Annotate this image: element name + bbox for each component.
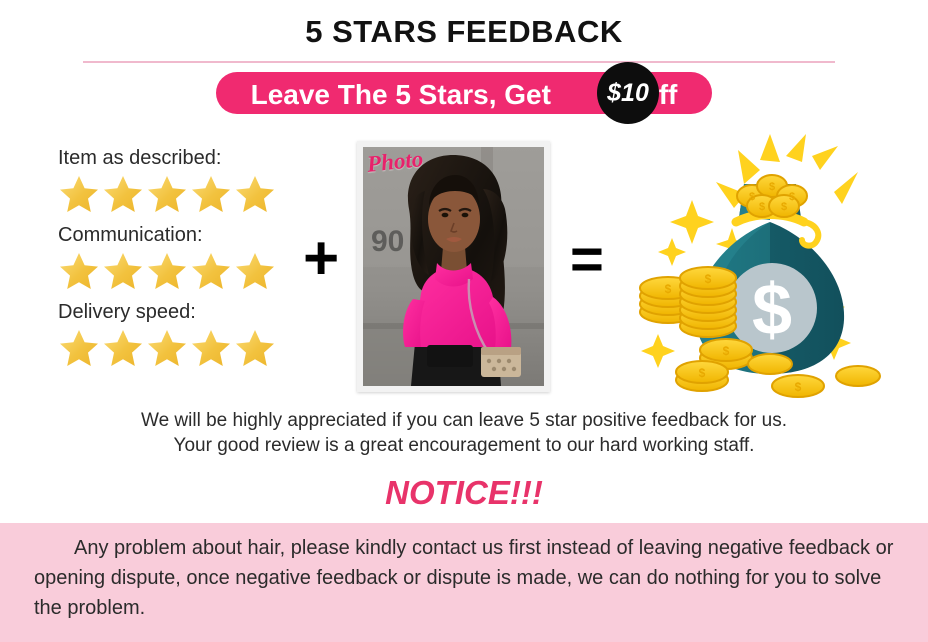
ratings-list: Item as described: Communication: Delive… bbox=[58, 145, 298, 376]
svg-text:$: $ bbox=[795, 380, 802, 394]
star-icon bbox=[146, 250, 188, 290]
star-rating-communication bbox=[58, 250, 298, 290]
svg-text:$: $ bbox=[789, 191, 795, 203]
customer-photo-frame: 90 Photo bbox=[357, 141, 550, 392]
star-icon bbox=[190, 250, 232, 290]
rating-label-item-as-described: Item as described: bbox=[58, 145, 298, 171]
svg-text:$: $ bbox=[705, 272, 712, 286]
svg-text:$: $ bbox=[759, 201, 765, 213]
star-icon bbox=[58, 250, 100, 290]
svg-text:$: $ bbox=[781, 201, 787, 213]
star-icon bbox=[234, 173, 276, 213]
page-title: 5 STARS FEEDBACK bbox=[0, 14, 928, 50]
svg-text:$: $ bbox=[749, 191, 755, 203]
footer-band: Any problem about hair, please kindly co… bbox=[0, 523, 928, 642]
star-icon bbox=[146, 327, 188, 367]
svg-text:$: $ bbox=[723, 344, 730, 358]
body-copy: We will be highly appreciated if you can… bbox=[64, 408, 864, 458]
star-icon bbox=[102, 250, 144, 290]
rating-label-delivery-speed: Delivery speed: bbox=[58, 299, 298, 325]
star-icon bbox=[102, 173, 144, 213]
body-copy-line-2: Your good review is a great encouragemen… bbox=[64, 433, 864, 458]
body-copy-line-1: We will be highly appreciated if you can… bbox=[64, 408, 864, 433]
star-icon bbox=[102, 327, 144, 367]
photo-illustration bbox=[363, 147, 544, 386]
star-icon bbox=[190, 173, 232, 213]
rating-row: Delivery speed: bbox=[58, 299, 298, 367]
plus-operator: + bbox=[303, 228, 339, 290]
dollar-sign-label: $ bbox=[752, 270, 792, 350]
svg-text:$: $ bbox=[769, 181, 775, 193]
svg-text:$: $ bbox=[699, 366, 706, 380]
footer-disclaimer-text: Any problem about hair, please kindly co… bbox=[34, 533, 896, 623]
star-icon bbox=[234, 327, 276, 367]
star-icon bbox=[234, 250, 276, 290]
rating-row: Item as described: bbox=[58, 145, 298, 213]
star-icon bbox=[146, 173, 188, 213]
star-icon bbox=[190, 327, 232, 367]
header-divider bbox=[83, 61, 835, 63]
star-rating-item-as-described bbox=[58, 173, 298, 213]
star-icon bbox=[58, 173, 100, 213]
promo-text-before: Leave The 5 Stars, Get bbox=[251, 76, 551, 114]
star-icon bbox=[58, 327, 100, 367]
rating-row: Communication: bbox=[58, 222, 298, 290]
star-rating-delivery-speed bbox=[58, 327, 298, 367]
coin-pile-top: $$$ $$ bbox=[737, 175, 807, 217]
promo-banner: 5 STARS FEEDBACK Leave The 5 Stars, GetO… bbox=[0, 0, 928, 642]
rating-label-communication: Communication: bbox=[58, 222, 298, 248]
notice-heading: NOTICE!!! bbox=[0, 474, 928, 512]
customer-photo: 90 Photo bbox=[363, 147, 544, 386]
coin-stack-left: $ $ bbox=[640, 267, 736, 337]
svg-text:$: $ bbox=[665, 282, 672, 296]
wall-number-text: 90 bbox=[371, 225, 404, 259]
money-bag-illustration: $$$ $$ $ $ $ bbox=[620, 112, 920, 402]
equals-operator: = bbox=[570, 231, 604, 289]
